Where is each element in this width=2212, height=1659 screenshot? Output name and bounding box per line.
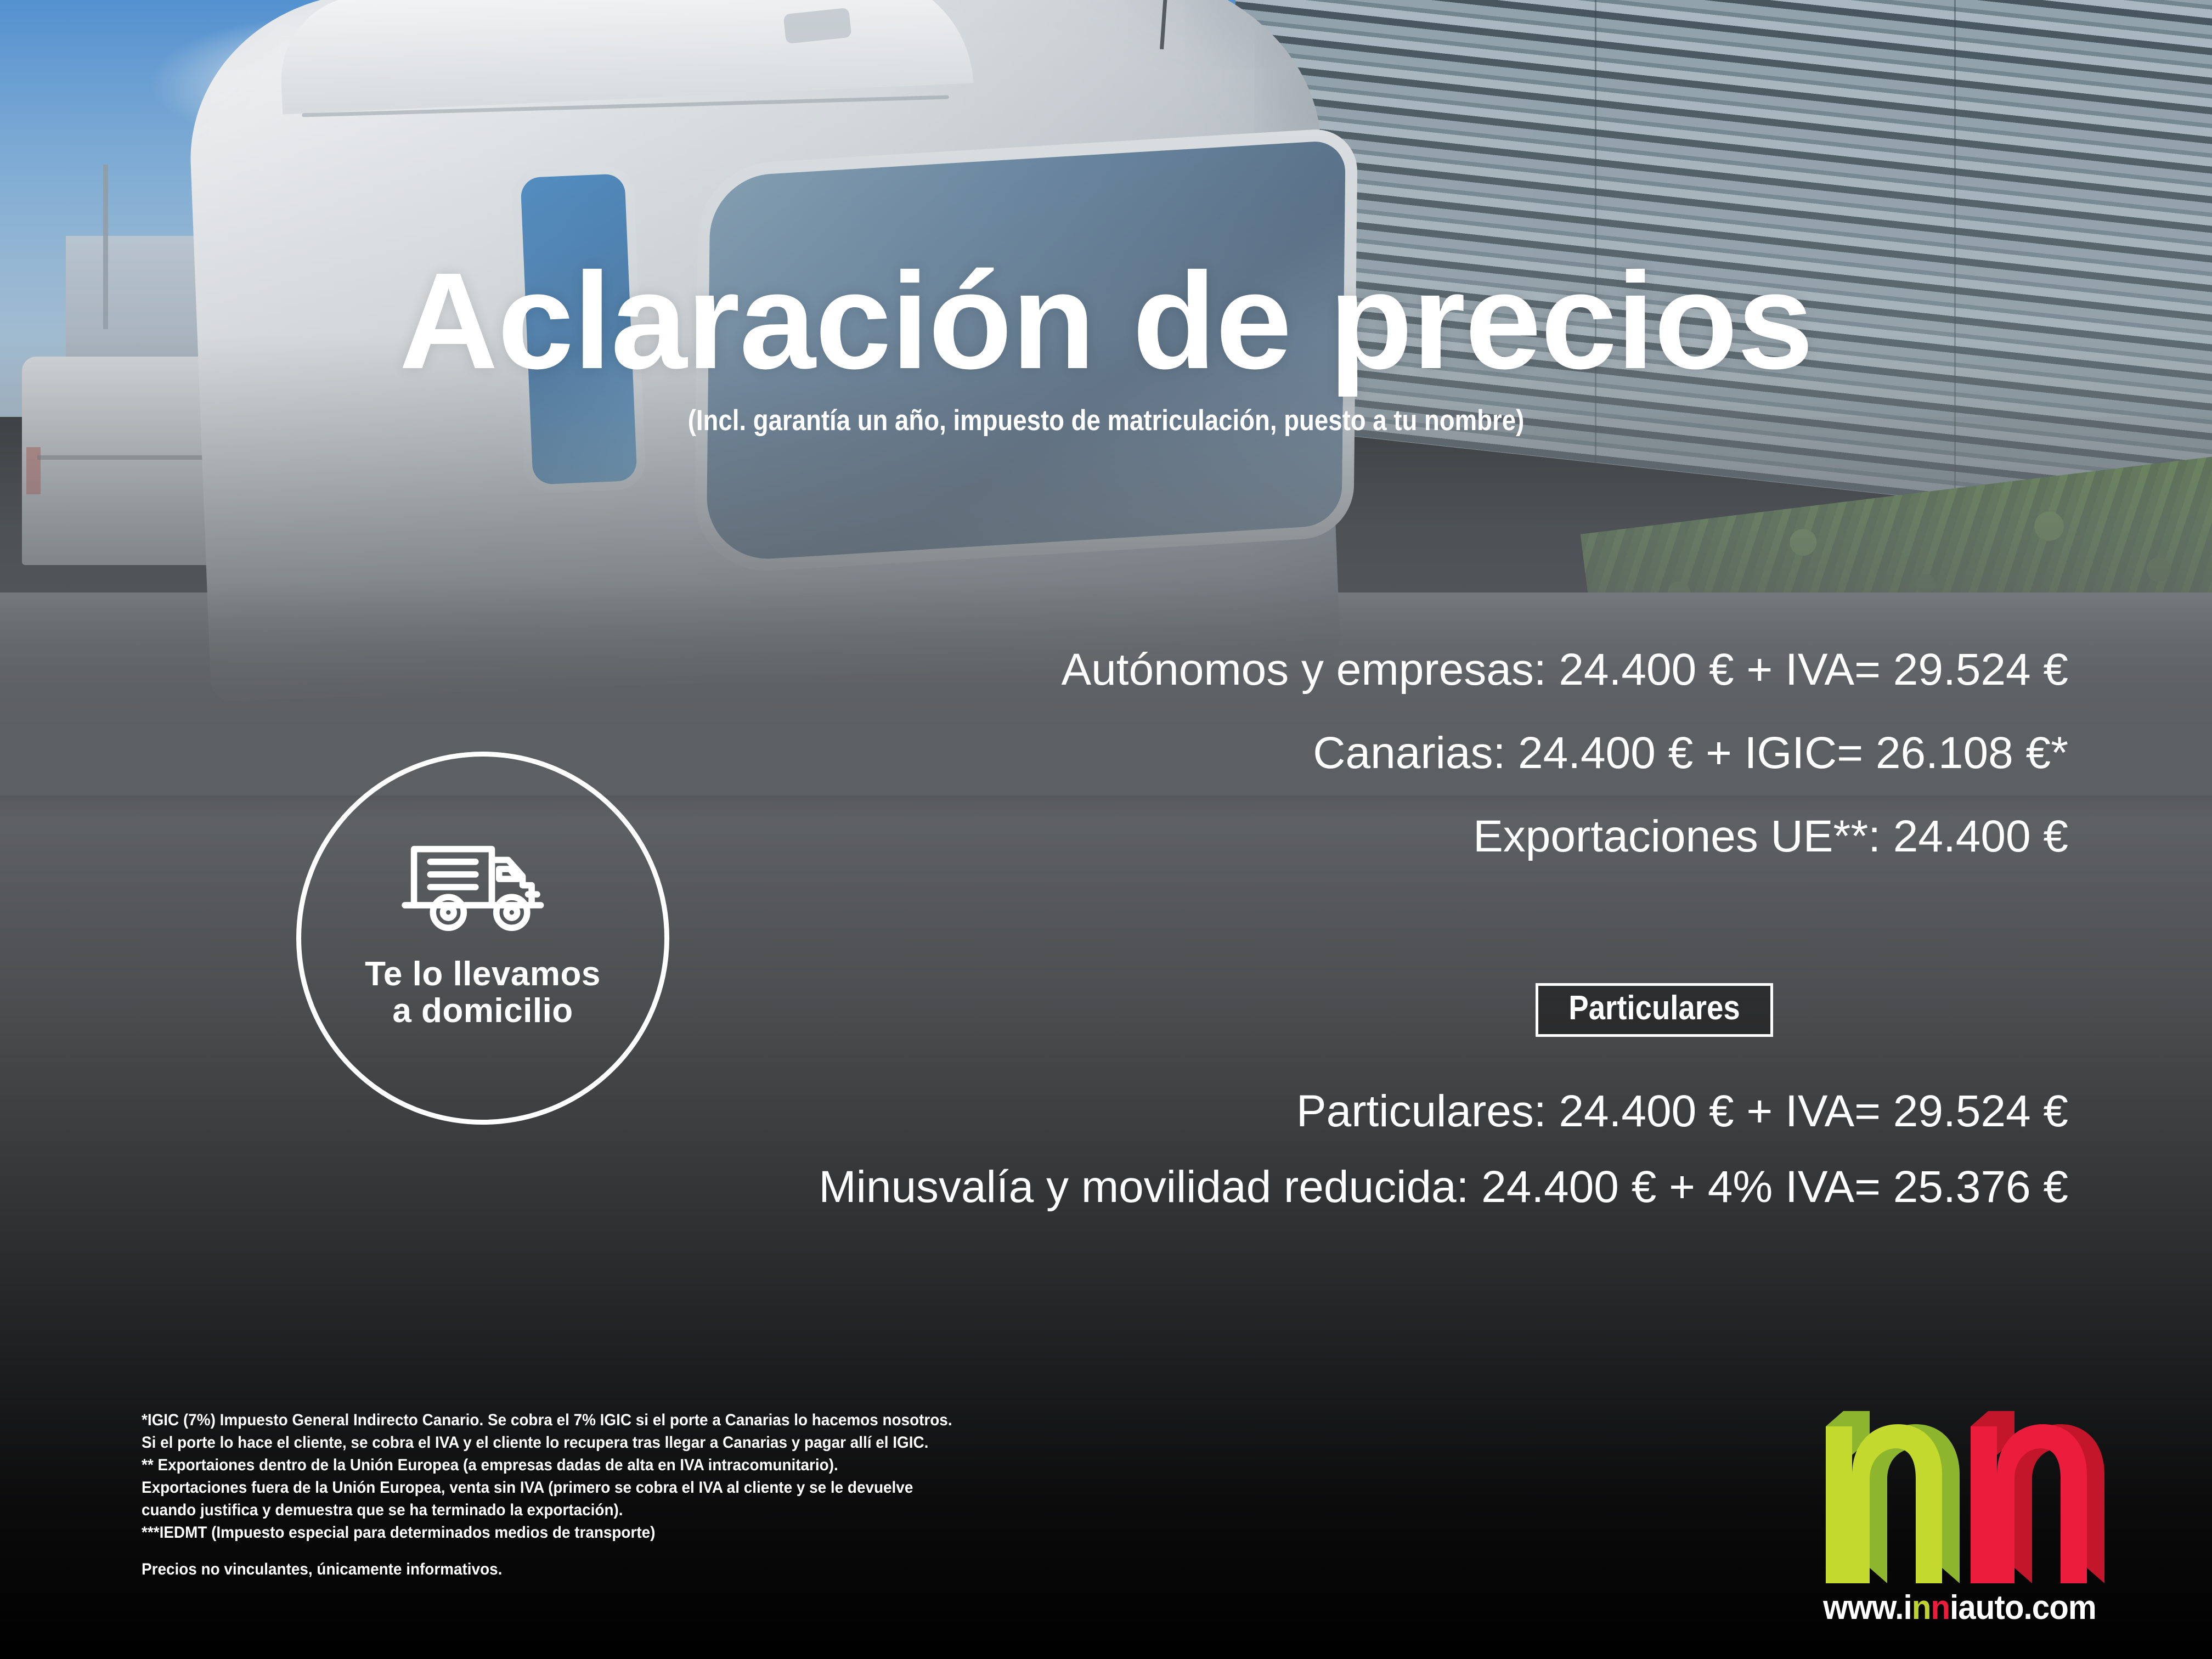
fineprint-block: *IGIC (7%) Impuesto General Indirecto Ca… (142, 1409, 952, 1581)
fineprint-line: Si el porte lo hace el cliente, se cobra… (142, 1431, 952, 1454)
price-line-minusvalia: Minusvalía y movilidad reducida: 24.400 … (203, 1165, 2068, 1210)
inniauto-logo[interactable]: www.inniauto.com (1806, 1407, 2113, 1625)
logo-url-suffix: iauto.com (1950, 1589, 2096, 1627)
delivery-truck-icon (392, 832, 573, 942)
logo-url-n-red: n (1931, 1589, 1950, 1627)
fineprint-line: ** Exportaiones dentro de la Unión Europ… (142, 1454, 952, 1476)
fineprint-line: ***IEDMT (Impuesto especial para determi… (142, 1521, 952, 1544)
price-line-exportaciones: Exportaciones UE**: 24.400 € (642, 814, 2068, 859)
fineprint-line: Exportaciones fuera de la Unión Europea,… (142, 1476, 952, 1499)
nn-logo-icon (1806, 1407, 2113, 1588)
badge-line-1: Te lo llevamos (365, 956, 601, 993)
badge-line-2: a domicilio (365, 993, 601, 1030)
fineprint-spacer (142, 1544, 952, 1558)
fineprint-line: cuando justifica y demuestra que se ha t… (142, 1499, 952, 1521)
logo-url-prefix: www.i (1823, 1589, 1912, 1627)
private-price-list: Particulares: 24.400 € + IVA= 29.524 € M… (203, 1089, 2068, 1240)
home-delivery-badge: Te lo llevamos a domicilio (296, 752, 669, 1125)
page-title: Aclaración de precios (0, 252, 2212, 390)
logo-url-n-green: n (1912, 1589, 1931, 1627)
business-price-list: Autónomos y empresas: 24.400 € + IVA= 29… (642, 647, 2068, 859)
logo-url[interactable]: www.inniauto.com (1815, 1591, 2104, 1625)
particulares-box: Particulares (1536, 983, 1773, 1037)
price-line-autonomos: Autónomos y empresas: 24.400 € + IVA= 29… (642, 647, 2068, 692)
badge-text: Te lo llevamos a domicilio (365, 956, 601, 1030)
price-line-particulares: Particulares: 24.400 € + IVA= 29.524 € (203, 1089, 2068, 1134)
fineprint-disclaimer: Precios no vinculantes, únicamente infor… (142, 1558, 952, 1581)
price-line-canarias: Canarias: 24.400 € + IGIC= 26.108 €* (642, 731, 2068, 776)
header: Aclaración de precios (Incl. garantía un… (0, 252, 2212, 437)
fineprint-line: *IGIC (7%) Impuesto General Indirecto Ca… (142, 1409, 952, 1431)
page-subtitle: (Incl. garantía un año, impuesto de matr… (155, 404, 2057, 437)
particulares-label: Particulares (1568, 991, 1740, 1025)
particulares-section-header: Particulares (1536, 983, 1773, 1037)
price-clarification-poster: Aclaración de precios (Incl. garantía un… (0, 0, 2212, 1659)
